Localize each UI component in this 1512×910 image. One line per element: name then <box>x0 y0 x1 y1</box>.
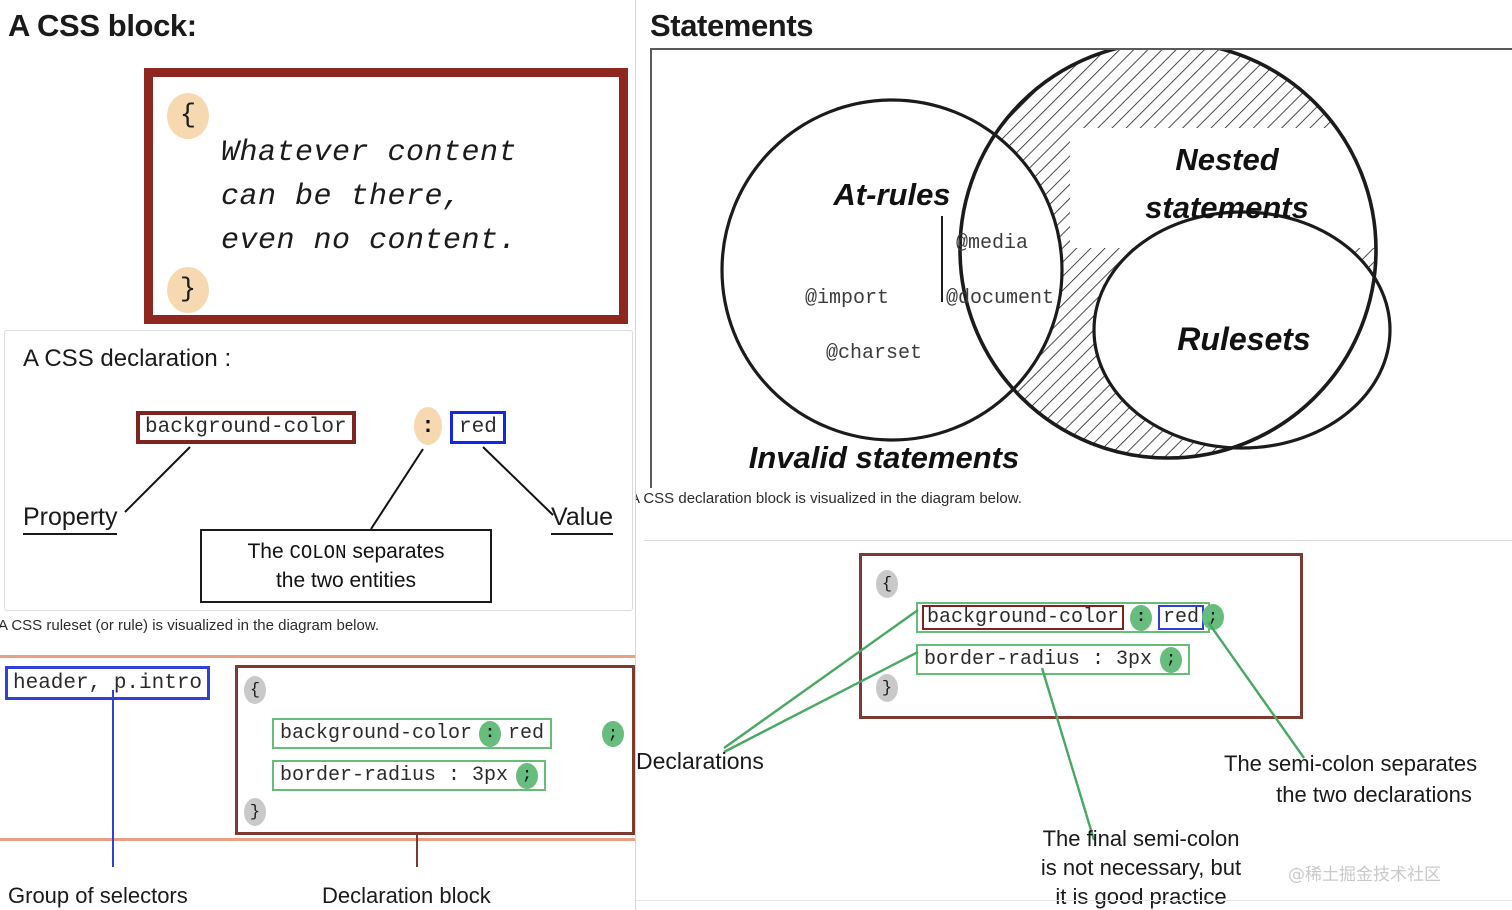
venn-at-charset: @charset <box>826 342 922 365</box>
final-semicolon-note-line-2: is not necessary, but <box>991 853 1291 882</box>
colon-badge: : <box>414 407 442 445</box>
block-content-line-3: even no content. <box>221 219 611 263</box>
group-of-selectors-label: Group of selectors <box>8 883 188 909</box>
colon-explanation-note: The COLON separates the two entities <box>200 529 492 603</box>
block-content-line-1: Whatever content <box>221 131 611 175</box>
open-brace-badge: { <box>167 93 209 139</box>
statements-venn-frame: At-rules Nested statements Rulesets Inva… <box>650 48 1512 488</box>
colon-note-suffix: separates <box>346 540 444 563</box>
css-declaration-panel: A CSS declaration : background-color : r… <box>4 330 633 611</box>
semicolon-separator-note-line-2: the two declarations <box>1224 779 1512 810</box>
colon-keyword: COLON <box>289 542 346 564</box>
colon-note-line-1: The COLON separates <box>247 538 444 567</box>
venn-at-document: @document <box>946 287 1054 310</box>
statements-venn-diagram: At-rules Nested statements Rulesets Inva… <box>652 50 1510 486</box>
close-brace-badge: } <box>167 267 209 313</box>
final-semicolon-note-line-3: it is good practice <box>991 882 1291 910</box>
venn-label-nested-statements-line2: statements <box>1145 190 1309 225</box>
block-content-line-2: can be there, <box>221 175 611 219</box>
declaration-block-label: Declaration block <box>322 883 491 909</box>
caption-ruleset: A CSS ruleset (or rule) is visualized in… <box>0 617 379 634</box>
value-label: Value <box>551 503 613 535</box>
final-semicolon-note-line-1: The final semi-colon <box>991 824 1291 853</box>
venn-label-at-rules: At-rules <box>832 177 950 212</box>
left-column: A CSS block: { } Whatever content can be… <box>0 0 635 910</box>
value-box: red <box>450 411 506 444</box>
block-content-text: Whatever content can be there, even no c… <box>221 131 611 263</box>
bottom-rule <box>636 900 1512 901</box>
site-watermark: @稀土掘金技术社区 <box>1288 860 1441 885</box>
colon-note-line-2: the two entities <box>276 567 416 594</box>
css-block-figure: { } Whatever content can be there, even … <box>144 68 628 324</box>
colon-note-prefix: The <box>247 540 289 563</box>
property-box: background-color <box>136 411 356 444</box>
venn-at-media: @media <box>956 232 1028 255</box>
ruleset-leader-lines <box>0 690 635 890</box>
semicolon-separator-note-line-1: The semi-colon separates <box>1224 748 1512 779</box>
right-column: Statements <box>636 0 1512 910</box>
page-root: A CSS block: { } Whatever content can be… <box>0 0 1512 910</box>
venn-label-nested-statements-line1: Nested <box>1175 142 1279 177</box>
caption-declaration-block: A CSS declaration block is visualized in… <box>636 490 1022 507</box>
venn-label-rulesets: Rulesets <box>1177 321 1310 357</box>
css-block-heading: A CSS block: <box>8 8 197 44</box>
semicolon-separator-note: The semi-colon separates the two declara… <box>1224 748 1512 810</box>
final-semicolon-note: The final semi-colon is not necessary, b… <box>991 824 1291 910</box>
declarations-label: Declarations <box>636 748 764 775</box>
property-label: Property <box>23 503 117 535</box>
venn-label-invalid-statements: Invalid statements <box>749 440 1019 475</box>
statements-heading: Statements <box>650 8 813 44</box>
venn-at-import: @import <box>805 287 889 310</box>
